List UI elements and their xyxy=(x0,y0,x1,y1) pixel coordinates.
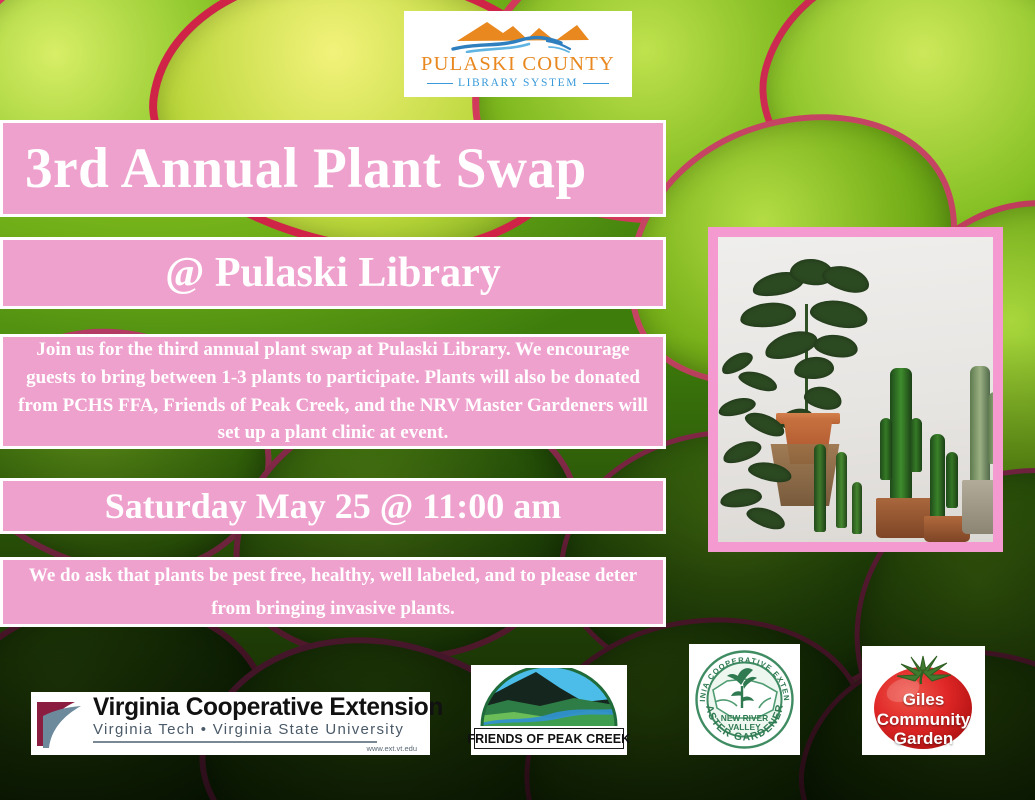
vce-url: www.ext.vt.edu xyxy=(93,744,417,753)
vce-swoosh-icon xyxy=(35,698,91,750)
description-banner: Join us for the third annual plant swap … xyxy=(0,334,666,449)
peak-creek-label-band: FRIENDS OF PEAK CREEK xyxy=(474,728,624,749)
datetime-banner: Saturday May 25 @ 11:00 am xyxy=(0,478,666,534)
tomato-icon xyxy=(867,650,980,751)
sponsor-friends-of-peak-creek: FRIENDS OF PEAK CREEK xyxy=(471,665,627,755)
vce-title: Virginia Cooperative Extension xyxy=(93,694,443,720)
sponsor-nrv-master-gardeners: VIRGINIA COOPERATIVE EXTENSION MASTER GA… xyxy=(689,644,800,755)
sponsor-giles-community-garden: Giles Community Garden xyxy=(862,646,985,755)
vce-subtitle: Virginia Tech • Virginia State Universit… xyxy=(93,721,450,739)
pulaski-county-library-logo: PULASKI COUNTY LIBRARY SYSTEM xyxy=(404,11,632,97)
peak-creek-label: FRIENDS OF PEAK CREEK xyxy=(468,731,631,746)
title-banner: 3rd Annual Plant Swap xyxy=(0,120,666,217)
plant-photo-frame xyxy=(708,227,1003,552)
library-name: PULASKI COUNTY xyxy=(421,54,615,75)
plant-photo xyxy=(718,237,993,542)
mountain-river-icon xyxy=(443,19,593,53)
peak-creek-landscape-icon xyxy=(478,668,620,726)
note-text: We do ask that plants be pest free, heal… xyxy=(17,559,649,626)
subtitle-banner: @ Pulaski Library xyxy=(0,237,666,309)
venue-subtitle: @ Pulaski Library xyxy=(165,252,500,294)
svg-text:VALLEY: VALLEY xyxy=(728,722,761,732)
vce-divider xyxy=(93,741,377,743)
page-title: 3rd Annual Plant Swap xyxy=(25,140,623,197)
event-datetime: Saturday May 25 @ 11:00 am xyxy=(105,488,562,524)
description-text: Join us for the third annual plant swap … xyxy=(17,336,649,446)
note-banner: We do ask that plants be pest free, heal… xyxy=(0,557,666,627)
library-tagline-row: LIBRARY SYSTEM xyxy=(427,78,609,90)
master-gardeners-seal-icon: VIRGINIA COOPERATIVE EXTENSION MASTER GA… xyxy=(693,648,796,751)
sponsor-virginia-cooperative-extension: Virginia Cooperative Extension Virginia … xyxy=(31,692,430,755)
library-tagline: LIBRARY SYSTEM xyxy=(458,78,578,90)
flyer-canvas: PULASKI COUNTY LIBRARY SYSTEM 3rd Annual… xyxy=(0,0,1035,800)
